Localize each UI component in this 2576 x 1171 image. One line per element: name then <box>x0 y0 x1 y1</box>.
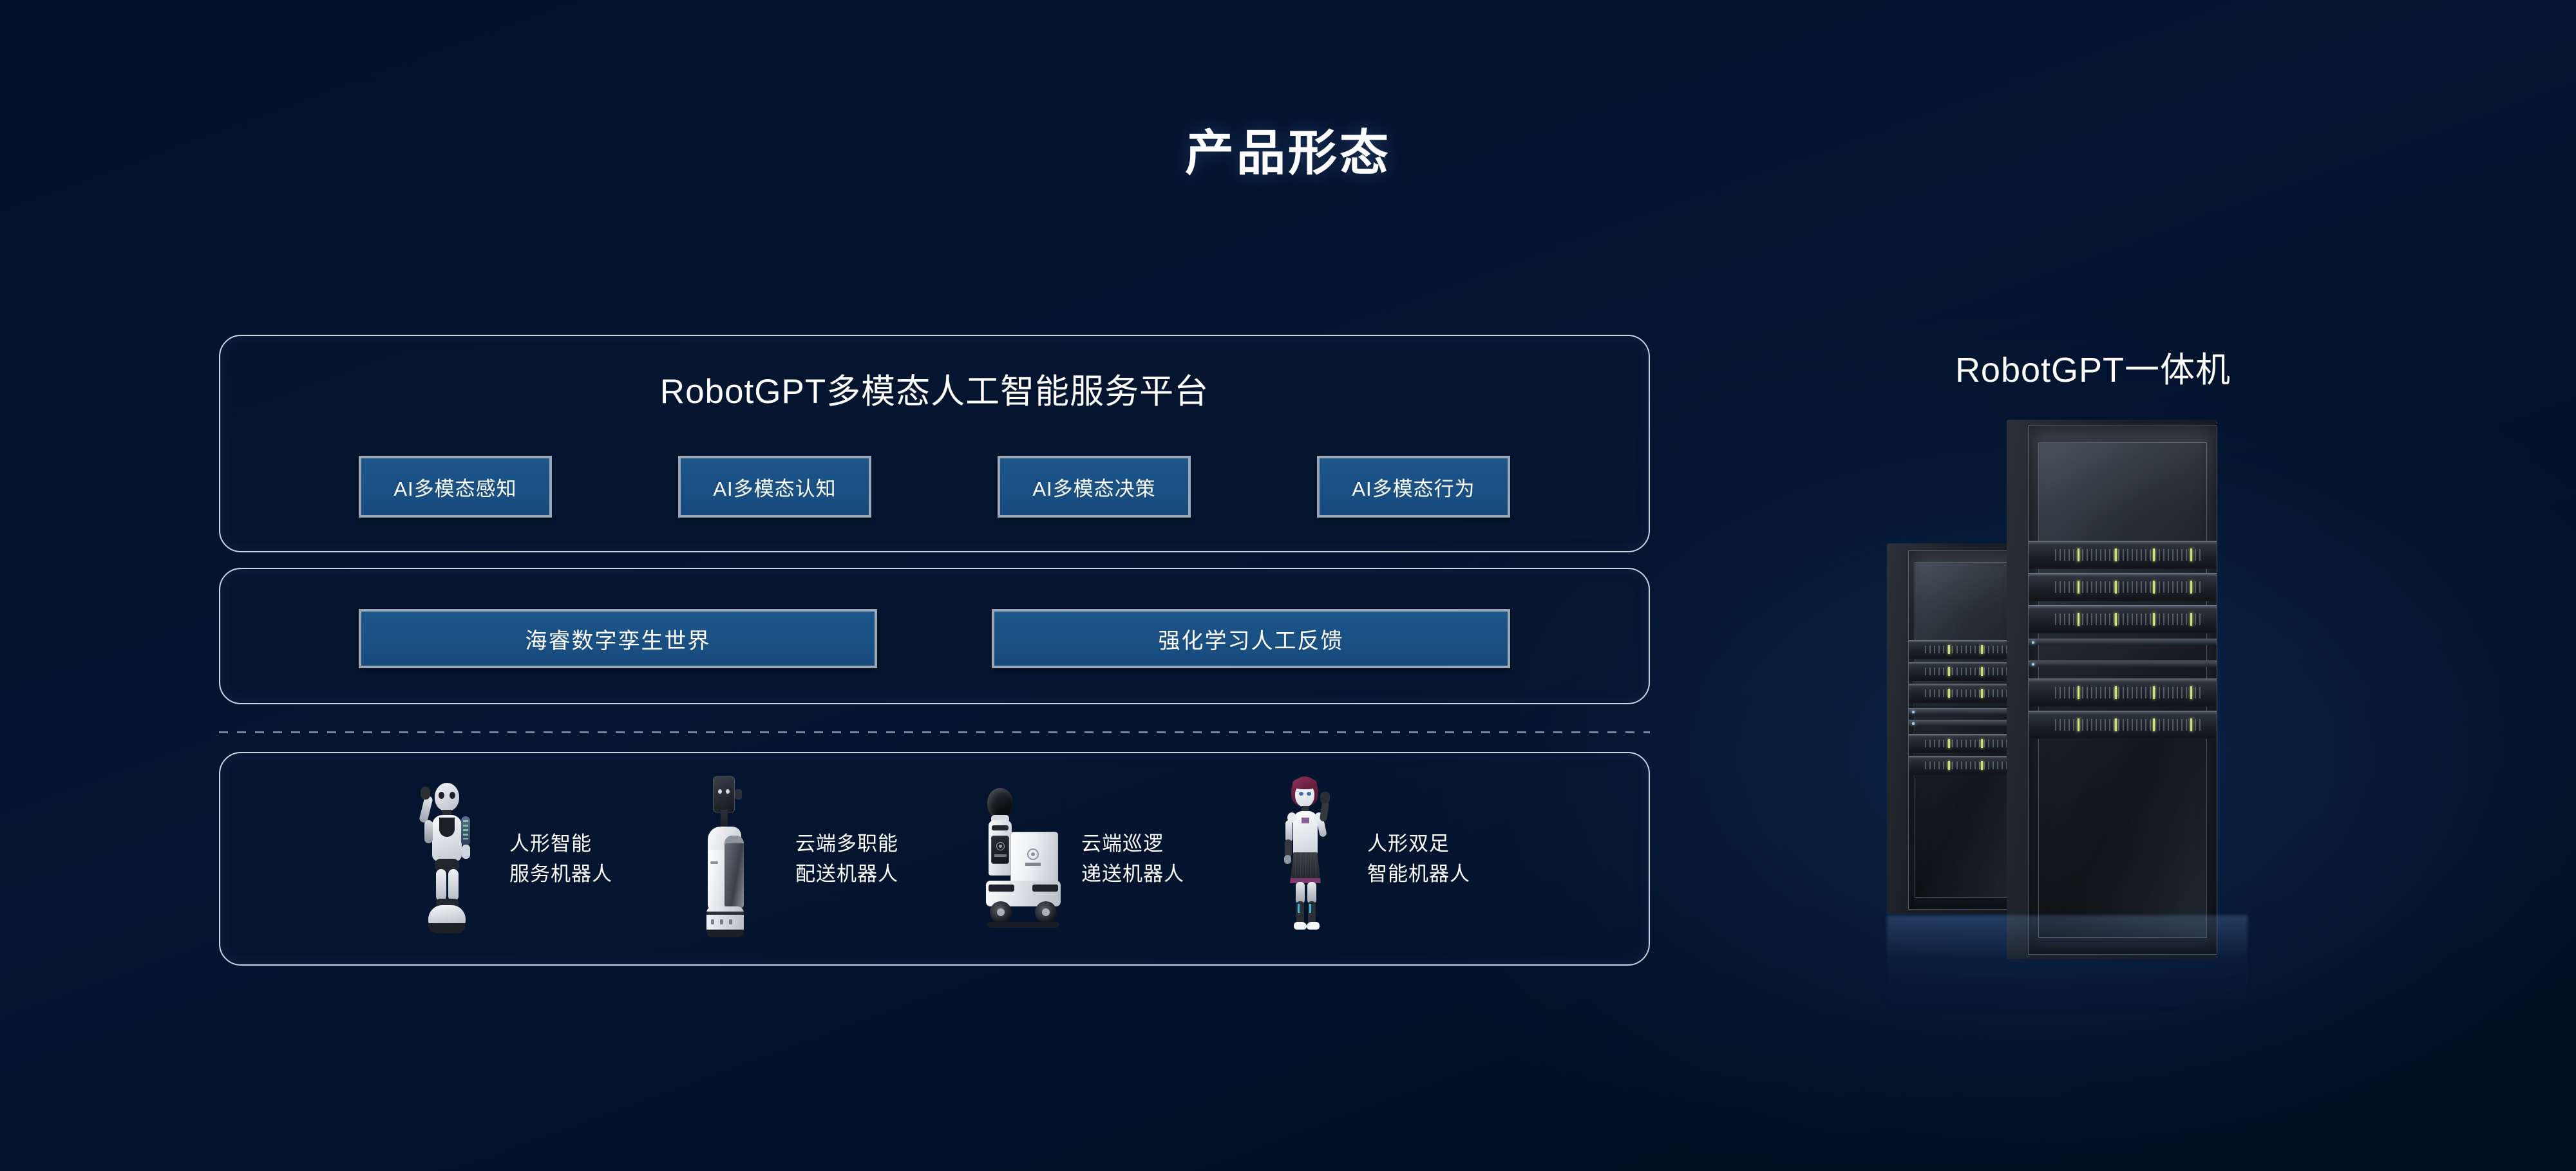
robot-item-humanoid-service[interactable]: 人形智能 服务机器人 <box>399 773 612 945</box>
robot-list: 人形智能 服务机器人 <box>220 753 1649 964</box>
robot-label-humanoid-biped: 人形双足 智能机器人 <box>1367 829 1470 889</box>
robot-item-humanoid-biped[interactable]: 人形双足 智能机器人 <box>1256 773 1470 945</box>
robot-label-cloud-patrol: 云端巡逻 递送机器人 <box>1081 829 1184 889</box>
engine-button-digital-twin[interactable]: 海睿数字孪生世界 <box>359 609 877 668</box>
humanoid-service-robot-icon <box>399 773 495 945</box>
server-cabinet-front <box>2007 420 2217 959</box>
rack-reflection <box>1887 915 2248 1012</box>
robot-label-humanoid-service: 人形智能 服务机器人 <box>509 829 612 889</box>
capability-chip-decision[interactable]: AI多模态决策 <box>998 456 1191 518</box>
server-rack-icon <box>1887 412 2248 1043</box>
capability-chip-behavior[interactable]: AI多模态行为 <box>1317 456 1510 518</box>
appliance-title: RobotGPT一体机 <box>1835 341 2351 392</box>
humanoid-biped-robot-icon <box>1256 773 1353 945</box>
capability-chip-cognition[interactable]: AI多模态认知 <box>678 456 871 518</box>
capability-chip-row: AI多模态感知 AI多模态认知 AI多模态决策 AI多模态行为 <box>220 456 1649 518</box>
robot-label-cloud-delivery: 云端多职能 配送机器人 <box>795 829 898 889</box>
robot-item-cloud-delivery[interactable]: 云端多职能 配送机器人 <box>685 773 898 945</box>
server-cabinet-back <box>1887 543 2025 914</box>
platform-title: RobotGPT多模态人工智能服务平台 <box>220 364 1649 413</box>
engine-card: 海睿数字孪生世界 强化学习人工反馈 <box>219 568 1650 704</box>
robot-item-cloud-patrol[interactable]: 云端巡逻 递送机器人 <box>971 773 1184 945</box>
page-title: 产品形态 <box>0 113 2576 184</box>
engine-button-rlhf[interactable]: 强化学习人工反馈 <box>992 609 1510 668</box>
cloud-patrol-robot-icon <box>971 773 1067 945</box>
robots-card: 人形智能 服务机器人 <box>219 752 1650 966</box>
engine-button-row: 海睿数字孪生世界 强化学习人工反馈 <box>220 609 1649 668</box>
slide-canvas: 产品形态 RobotGPT多模态人工智能服务平台 AI多模态感知 AI多模态认知… <box>0 0 2576 1171</box>
cloud-delivery-robot-icon <box>685 773 781 945</box>
capability-chip-perception[interactable]: AI多模态感知 <box>359 456 552 518</box>
section-divider <box>219 731 1650 733</box>
platform-card: RobotGPT多模态人工智能服务平台 AI多模态感知 AI多模态认知 AI多模… <box>219 335 1650 552</box>
